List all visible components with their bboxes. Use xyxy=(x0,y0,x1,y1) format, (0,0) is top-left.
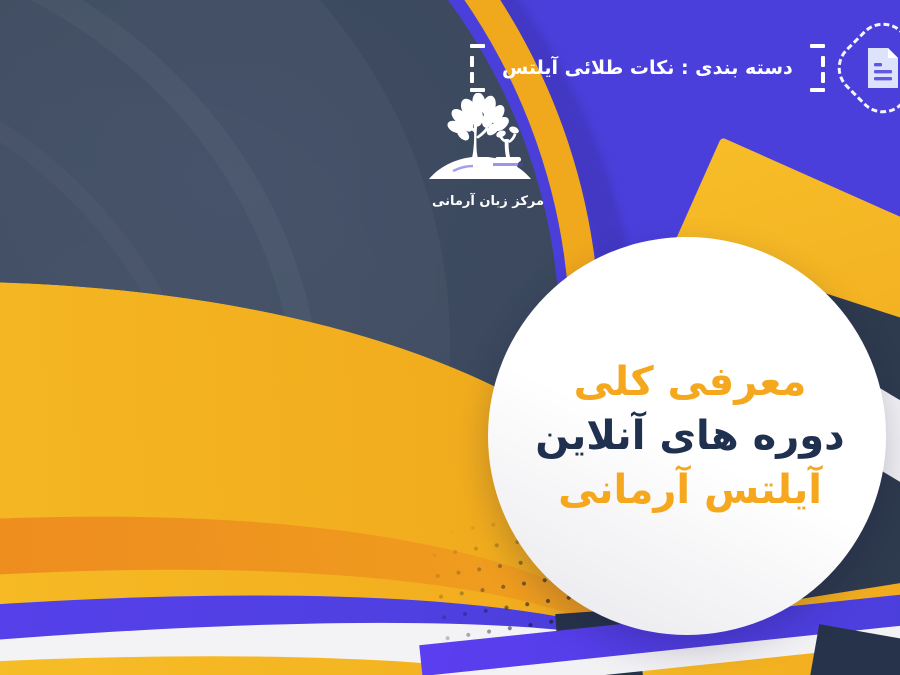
document-badge xyxy=(837,22,900,114)
title-line-2: دوره های آنلاین xyxy=(488,409,886,463)
dashed-bracket-left xyxy=(470,44,486,92)
title-block: معرفی کلی دوره های آنلاین آیلتس آرمانی xyxy=(488,355,886,517)
category-header: دسته بندی : نکات طلائی آیلتس xyxy=(470,22,900,114)
category-label: دسته بندی : نکات طلائی آیلتس xyxy=(498,57,797,79)
title-line-3: آیلتس آرمانی xyxy=(488,463,886,517)
dashed-bracket-right xyxy=(809,44,825,92)
document-icon xyxy=(864,46,900,90)
banner-canvas: دسته بندی : نکات طلائی آیلتس xyxy=(0,0,900,675)
title-circle: معرفی کلی دوره های آنلاین آیلتس آرمانی xyxy=(488,237,886,635)
logo-name: مرکز زبان آرمانی xyxy=(432,194,544,209)
title-line-1: معرفی کلی xyxy=(488,355,886,409)
